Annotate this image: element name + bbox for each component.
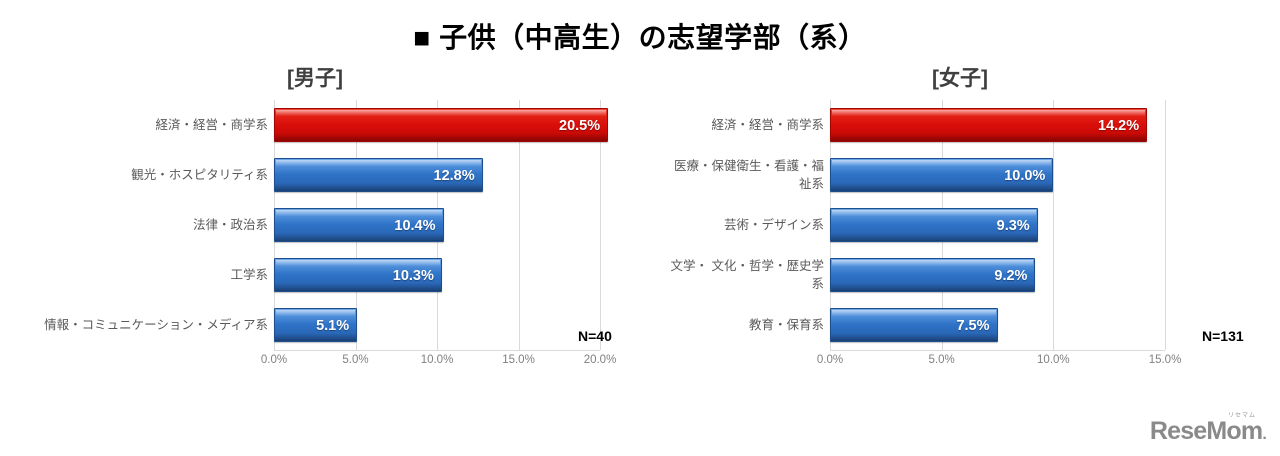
category-label: 芸術・デザイン系 xyxy=(640,200,824,250)
bar-value-label: 7.5% xyxy=(956,309,989,343)
bar-value-label: 12.8% xyxy=(434,159,475,193)
x-axis-tick-label: 10.0% xyxy=(421,354,454,366)
bar-row[interactable]: 10.3% xyxy=(274,258,600,292)
category-label: 観光・ホスピタリティ系 xyxy=(0,150,268,200)
bar[interactable]: 10.3% xyxy=(274,258,442,292)
page-title: ■ 子供（中高生）の志望学部（系） xyxy=(0,16,1280,56)
bar-highlighted[interactable]: 20.5% xyxy=(274,108,608,142)
bar-value-label: 14.2% xyxy=(1098,109,1139,143)
bar-row[interactable]: 10.0% xyxy=(830,158,1165,192)
bar[interactable]: 9.2% xyxy=(830,258,1035,292)
gridline xyxy=(1165,100,1166,350)
bar-value-label: 10.0% xyxy=(1004,159,1045,193)
bar-value-label: 9.3% xyxy=(997,209,1030,243)
bar-highlight-gloss xyxy=(276,110,606,116)
x-axis-tick-label: 20.0% xyxy=(584,354,617,366)
bar-value-label: 10.4% xyxy=(394,209,435,243)
bar[interactable]: 10.4% xyxy=(274,208,444,242)
bar-row[interactable]: 9.3% xyxy=(830,208,1165,242)
bar-value-label: 9.2% xyxy=(994,259,1027,293)
category-label: 教育・保育系 xyxy=(640,300,824,350)
category-label: 文学・ 文化・哲学・歴史学 系 xyxy=(640,250,824,300)
logo-name: ReseMom xyxy=(1150,417,1263,445)
logo-dot: . xyxy=(1262,426,1266,443)
logo-wordmark: ReseMom. xyxy=(1150,419,1266,444)
panel-title-boys: [男子] xyxy=(0,62,635,92)
bar[interactable]: 12.8% xyxy=(274,158,483,192)
bar-highlighted[interactable]: 14.2% xyxy=(830,108,1147,142)
x-axis-tick-label: 10.0% xyxy=(1037,354,1070,366)
panel-title-girls: [女子] xyxy=(640,62,1280,92)
x-axis-tick-label: 5.0% xyxy=(342,354,368,366)
x-axis-tick-label: 15.0% xyxy=(1149,354,1182,366)
category-label: 経済・経営・商学系 xyxy=(640,100,824,150)
x-axis-tick-label: 15.0% xyxy=(502,354,535,366)
x-axis-tick-label: 5.0% xyxy=(929,354,955,366)
bar[interactable]: 9.3% xyxy=(830,208,1038,242)
bar-value-label: 10.3% xyxy=(393,259,434,293)
bar[interactable]: 7.5% xyxy=(830,308,998,342)
bar-row[interactable]: 9.2% xyxy=(830,258,1165,292)
resemom-logo: リセマム ReseMom. xyxy=(1150,413,1266,444)
category-label: 医療・保健衛生・看護・福 祉系 xyxy=(640,150,824,200)
category-label: 法律・政治系 xyxy=(0,200,268,250)
x-axis-tick-label: 0.0% xyxy=(817,354,843,366)
bar-value-label: 5.1% xyxy=(316,309,349,343)
bar-row[interactable]: 7.5% xyxy=(830,308,1165,342)
x-axis-line xyxy=(274,350,600,351)
category-label: 工学系 xyxy=(0,250,268,300)
bar-row[interactable]: 20.5% xyxy=(274,108,600,142)
bar-row[interactable]: 12.8% xyxy=(274,158,600,192)
category-label: 情報・コミュニケーション・メディア系 xyxy=(0,300,268,350)
sample-size-girls: N=131 xyxy=(1202,328,1244,344)
x-axis-line xyxy=(830,350,1165,351)
bar-value-label: 20.5% xyxy=(559,109,600,143)
bar-row[interactable]: 5.1% xyxy=(274,308,600,342)
bar-row[interactable]: 10.4% xyxy=(274,208,600,242)
bar-row[interactable]: 14.2% xyxy=(830,108,1165,142)
bar[interactable]: 5.1% xyxy=(274,308,357,342)
category-label: 経済・経営・商学系 xyxy=(0,100,268,150)
bar[interactable]: 10.0% xyxy=(830,158,1053,192)
x-axis-tick-label: 0.0% xyxy=(261,354,287,366)
